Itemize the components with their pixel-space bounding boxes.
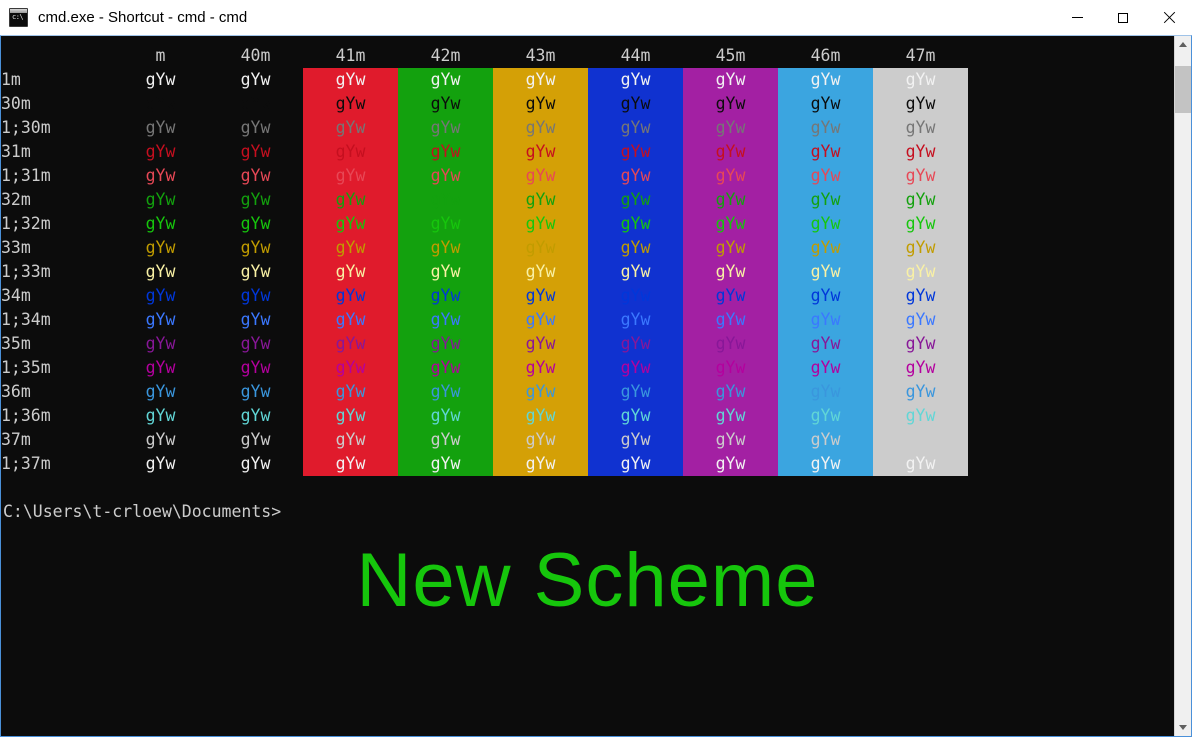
color-cell-1;33m-44m: gYw xyxy=(588,260,683,284)
table-row: 35mgYwgYwgYwgYwgYwgYwgYwgYwgYw xyxy=(1,332,968,356)
color-cell-35m-45m: gYw xyxy=(683,332,778,356)
table-row: 1;36mgYwgYwgYwgYwgYwgYwgYwgYwgYw xyxy=(1,404,968,428)
color-cell-1;31m-40m: gYw xyxy=(208,164,303,188)
column-header-47m: 47m xyxy=(873,44,968,68)
table-row: 1;34mgYwgYwgYwgYwgYwgYwgYwgYwgYw xyxy=(1,308,968,332)
color-cell-35m-40m: gYw xyxy=(208,332,303,356)
color-cell-32m-42m: gYw xyxy=(398,188,493,212)
close-button[interactable] xyxy=(1146,0,1192,35)
color-cell-33m-m: gYw xyxy=(113,236,208,260)
color-cell-1;31m-m: gYw xyxy=(113,164,208,188)
color-cell-34m-m: gYw xyxy=(113,284,208,308)
table-row: 34mgYwgYwgYwgYwgYwgYwgYwgYwgYw xyxy=(1,284,968,308)
color-cell-33m-41m: gYw xyxy=(303,236,398,260)
color-cell-32m-m: gYw xyxy=(113,188,208,212)
color-cell-35m-47m: gYw xyxy=(873,332,968,356)
color-cell-37m-46m: gYw xyxy=(778,428,873,452)
color-cell-33m-46m: gYw xyxy=(778,236,873,260)
color-cell-36m-47m: gYw xyxy=(873,380,968,404)
color-cell-30m-46m: gYw xyxy=(778,92,873,116)
color-cell-1;36m-43m: gYw xyxy=(493,404,588,428)
color-cell-1;34m-42m: gYw xyxy=(398,308,493,332)
color-cell-31m-43m: gYw xyxy=(493,140,588,164)
column-header-42m: 42m xyxy=(398,44,493,68)
table-row: 1;32mgYwgYwgYwgYwgYwgYwgYwgYwgYw xyxy=(1,212,968,236)
color-cell-1;33m-42m: gYw xyxy=(398,260,493,284)
row-header-32m: 32m xyxy=(1,188,113,212)
color-cell-1;32m-43m: gYw xyxy=(493,212,588,236)
color-cell-34m-40m: gYw xyxy=(208,284,303,308)
color-cell-31m-41m: gYw xyxy=(303,140,398,164)
color-cell-1m-43m: gYw xyxy=(493,68,588,92)
row-header-1;34m: 1;34m xyxy=(1,308,113,332)
color-cell-1;35m-42m: gYw xyxy=(398,356,493,380)
column-header-40m: 40m xyxy=(208,44,303,68)
color-cell-33m-40m: gYw xyxy=(208,236,303,260)
color-cell-1m-40m: gYw xyxy=(208,68,303,92)
table-row: 1mgYwgYwgYwgYwgYwgYwgYwgYwgYw xyxy=(1,68,968,92)
column-header-45m: 45m xyxy=(683,44,778,68)
color-cell-1;37m-m: gYw xyxy=(113,452,208,476)
color-cell-35m-41m: gYw xyxy=(303,332,398,356)
color-cell-1;33m-45m: gYw xyxy=(683,260,778,284)
color-cell-37m-40m: gYw xyxy=(208,428,303,452)
color-cell-37m-43m: gYw xyxy=(493,428,588,452)
table-row: 30mgYwgYwgYwgYwgYwgYwgYwgYwgYw xyxy=(1,92,968,116)
window-title: cmd.exe - Shortcut - cmd - cmd xyxy=(38,9,247,26)
color-cell-30m-m: gYw xyxy=(113,92,208,116)
close-icon xyxy=(1163,12,1175,24)
table-row: 1;35mgYwgYwgYwgYwgYwgYwgYwgYwgYw xyxy=(1,356,968,380)
color-cell-1m-41m: gYw xyxy=(303,68,398,92)
color-cell-1;36m-m: gYw xyxy=(113,404,208,428)
row-header-1;31m: 1;31m xyxy=(1,164,113,188)
color-cell-31m-46m: gYw xyxy=(778,140,873,164)
scrollbar-thumb[interactable] xyxy=(1175,66,1191,113)
color-cell-34m-45m: gYw xyxy=(683,284,778,308)
color-cell-1;35m-45m: gYw xyxy=(683,356,778,380)
color-cell-36m-40m: gYw xyxy=(208,380,303,404)
color-cell-30m-41m: gYw xyxy=(303,92,398,116)
row-header-35m: 35m xyxy=(1,332,113,356)
color-cell-1;31m-42m: gYw xyxy=(398,164,493,188)
ansi-table-body: 1mgYwgYwgYwgYwgYwgYwgYwgYwgYw30mgYwgYwgY… xyxy=(1,68,968,476)
color-cell-31m-m: gYw xyxy=(113,140,208,164)
color-cell-32m-45m: gYw xyxy=(683,188,778,212)
color-cell-1;35m-46m: gYw xyxy=(778,356,873,380)
color-cell-1;37m-46m: gYw xyxy=(778,452,873,476)
color-cell-1;36m-42m: gYw xyxy=(398,404,493,428)
column-header-46m: 46m xyxy=(778,44,873,68)
color-cell-1;31m-46m: gYw xyxy=(778,164,873,188)
chevron-down-icon xyxy=(1179,725,1187,730)
color-cell-1;36m-47m: gYw xyxy=(873,404,968,428)
scrollbar-track[interactable] xyxy=(1175,53,1191,719)
table-row: 33mgYwgYwgYwgYwgYwgYwgYwgYwgYw xyxy=(1,236,968,260)
color-cell-32m-44m: gYw xyxy=(588,188,683,212)
color-cell-1;32m-m: gYw xyxy=(113,212,208,236)
new-scheme-banner: New Scheme xyxy=(1,538,1174,624)
color-cell-1;30m-42m: gYw xyxy=(398,116,493,140)
title-bar[interactable]: cmd.exe - Shortcut - cmd - cmd xyxy=(0,0,1192,35)
color-cell-1;34m-41m: gYw xyxy=(303,308,398,332)
table-row: 1;37mgYwgYwgYwgYwgYwgYwgYwgYwgYw xyxy=(1,452,968,476)
window-controls xyxy=(1054,0,1192,35)
color-cell-1;35m-44m: gYw xyxy=(588,356,683,380)
color-cell-37m-m: gYw xyxy=(113,428,208,452)
color-cell-33m-43m: gYw xyxy=(493,236,588,260)
color-cell-32m-41m: gYw xyxy=(303,188,398,212)
color-cell-1;33m-47m: gYw xyxy=(873,260,968,284)
row-header-33m: 33m xyxy=(1,236,113,260)
color-cell-37m-45m: gYw xyxy=(683,428,778,452)
color-cell-1;35m-47m: gYw xyxy=(873,356,968,380)
color-cell-1;34m-m: gYw xyxy=(113,308,208,332)
color-cell-1;37m-43m: gYw xyxy=(493,452,588,476)
color-cell-1;33m-43m: gYw xyxy=(493,260,588,284)
scroll-up-button[interactable] xyxy=(1175,36,1191,53)
color-cell-1;30m-44m: gYw xyxy=(588,116,683,140)
row-header-37m: 37m xyxy=(1,428,113,452)
color-cell-1;36m-46m: gYw xyxy=(778,404,873,428)
color-cell-1;31m-45m: gYw xyxy=(683,164,778,188)
column-header-41m: 41m xyxy=(303,44,398,68)
color-cell-1;34m-44m: gYw xyxy=(588,308,683,332)
color-cell-1;31m-44m: gYw xyxy=(588,164,683,188)
console-output[interactable]: m40m41m42m43m44m45m46m47m 1mgYwgYwgYwgYw… xyxy=(1,36,1174,736)
color-cell-30m-42m: gYw xyxy=(398,92,493,116)
color-cell-35m-m: gYw xyxy=(113,332,208,356)
table-row: 32mgYwgYwgYwgYwgYwgYwgYwgYwgYw xyxy=(1,188,968,212)
color-cell-1m-45m: gYw xyxy=(683,68,778,92)
maximize-icon xyxy=(1118,13,1128,23)
column-header-m: m xyxy=(113,44,208,68)
color-cell-31m-44m: gYw xyxy=(588,140,683,164)
color-cell-1;30m-40m: gYw xyxy=(208,116,303,140)
color-cell-31m-47m: gYw xyxy=(873,140,968,164)
color-cell-34m-42m: gYw xyxy=(398,284,493,308)
color-cell-34m-41m: gYw xyxy=(303,284,398,308)
minimize-button[interactable] xyxy=(1054,0,1100,35)
color-cell-32m-46m: gYw xyxy=(778,188,873,212)
ansi-color-table: m40m41m42m43m44m45m46m47m 1mgYwgYwgYwgYw… xyxy=(1,44,968,476)
color-cell-34m-44m: gYw xyxy=(588,284,683,308)
table-row: 31mgYwgYwgYwgYwgYwgYwgYwgYwgYw xyxy=(1,140,968,164)
column-header-43m: 43m xyxy=(493,44,588,68)
row-header-34m: 34m xyxy=(1,284,113,308)
color-cell-1;37m-40m: gYw xyxy=(208,452,303,476)
color-cell-1m-47m: gYw xyxy=(873,68,968,92)
color-cell-31m-45m: gYw xyxy=(683,140,778,164)
color-cell-30m-43m: gYw xyxy=(493,92,588,116)
color-cell-1;33m-40m: gYw xyxy=(208,260,303,284)
color-cell-1;32m-45m: gYw xyxy=(683,212,778,236)
color-cell-1;31m-43m: gYw xyxy=(493,164,588,188)
color-cell-30m-45m: gYw xyxy=(683,92,778,116)
color-cell-1;32m-44m: gYw xyxy=(588,212,683,236)
color-cell-1;32m-46m: gYw xyxy=(778,212,873,236)
color-cell-1;30m-41m: gYw xyxy=(303,116,398,140)
color-cell-36m-43m: gYw xyxy=(493,380,588,404)
color-cell-37m-42m: gYw xyxy=(398,428,493,452)
color-cell-1;37m-41m: gYw xyxy=(303,452,398,476)
color-cell-35m-42m: gYw xyxy=(398,332,493,356)
row-header-1;30m: 1;30m xyxy=(1,116,113,140)
ansi-header-row: m40m41m42m43m44m45m46m47m xyxy=(1,44,968,68)
color-cell-1;33m-41m: gYw xyxy=(303,260,398,284)
color-cell-1;32m-41m: gYw xyxy=(303,212,398,236)
color-cell-1;37m-45m: gYw xyxy=(683,452,778,476)
chevron-up-icon xyxy=(1179,42,1187,47)
table-row: 1;30mgYwgYwgYwgYwgYwgYwgYwgYwgYw xyxy=(1,116,968,140)
color-cell-30m-40m: gYw xyxy=(208,92,303,116)
color-cell-1;36m-44m: gYw xyxy=(588,404,683,428)
color-cell-1;30m-45m: gYw xyxy=(683,116,778,140)
color-cell-37m-41m: gYw xyxy=(303,428,398,452)
color-cell-1;36m-40m: gYw xyxy=(208,404,303,428)
color-cell-1;36m-45m: gYw xyxy=(683,404,778,428)
color-cell-34m-43m: gYw xyxy=(493,284,588,308)
row-header-30m: 30m xyxy=(1,92,113,116)
maximize-button[interactable] xyxy=(1100,0,1146,35)
color-cell-32m-47m: gYw xyxy=(873,188,968,212)
scroll-down-button[interactable] xyxy=(1175,719,1191,736)
color-cell-36m-42m: gYw xyxy=(398,380,493,404)
row-header-1;33m: 1;33m xyxy=(1,260,113,284)
table-row: 1;33mgYwgYwgYwgYwgYwgYwgYwgYwgYw xyxy=(1,260,968,284)
ansi-table-head: m40m41m42m43m44m45m46m47m xyxy=(1,44,968,68)
vertical-scrollbar[interactable] xyxy=(1174,36,1191,736)
color-cell-1;34m-45m: gYw xyxy=(683,308,778,332)
color-cell-34m-46m: gYw xyxy=(778,284,873,308)
color-cell-37m-44m: gYw xyxy=(588,428,683,452)
color-cell-1;33m-46m: gYw xyxy=(778,260,873,284)
cmd-console-icon xyxy=(9,8,28,27)
table-row: 36mgYwgYwgYwgYwgYwgYwgYwgYwgYw xyxy=(1,380,968,404)
table-row: 37mgYwgYwgYwgYwgYwgYwgYwgYwgYw xyxy=(1,428,968,452)
color-cell-32m-40m: gYw xyxy=(208,188,303,212)
row-header-1;35m: 1;35m xyxy=(1,356,113,380)
color-cell-33m-44m: gYw xyxy=(588,236,683,260)
row-header-1;37m: 1;37m xyxy=(1,452,113,476)
color-cell-1;30m-m: gYw xyxy=(113,116,208,140)
title-bar-left: cmd.exe - Shortcut - cmd - cmd xyxy=(0,8,247,27)
row-header-1;32m: 1;32m xyxy=(1,212,113,236)
color-cell-1;30m-46m: gYw xyxy=(778,116,873,140)
command-prompt-line: C:\Users\t-crloew\Documents> xyxy=(1,500,1174,524)
color-cell-31m-40m: gYw xyxy=(208,140,303,164)
row-header-1m: 1m xyxy=(1,68,113,92)
color-cell-36m-46m: gYw xyxy=(778,380,873,404)
row-header-1;36m: 1;36m xyxy=(1,404,113,428)
color-cell-1;30m-43m: gYw xyxy=(493,116,588,140)
color-cell-35m-44m: gYw xyxy=(588,332,683,356)
row-header-36m: 36m xyxy=(1,380,113,404)
color-cell-1;34m-40m: gYw xyxy=(208,308,303,332)
color-cell-36m-41m: gYw xyxy=(303,380,398,404)
color-cell-1m-46m: gYw xyxy=(778,68,873,92)
color-cell-37m-47m: gYw xyxy=(873,428,968,452)
color-cell-1;37m-44m: gYw xyxy=(588,452,683,476)
color-cell-1;35m-m: gYw xyxy=(113,356,208,380)
color-cell-32m-43m: gYw xyxy=(493,188,588,212)
color-cell-1m-42m: gYw xyxy=(398,68,493,92)
table-corner xyxy=(1,44,113,68)
color-cell-36m-44m: gYw xyxy=(588,380,683,404)
color-cell-1;34m-47m: gYw xyxy=(873,308,968,332)
color-cell-1;32m-42m: gYw xyxy=(398,212,493,236)
color-cell-1;31m-47m: gYw xyxy=(873,164,968,188)
color-cell-35m-46m: gYw xyxy=(778,332,873,356)
color-cell-33m-47m: gYw xyxy=(873,236,968,260)
column-header-44m: 44m xyxy=(588,44,683,68)
color-cell-30m-47m: gYw xyxy=(873,92,968,116)
color-cell-1;30m-47m: gYw xyxy=(873,116,968,140)
color-cell-1;31m-41m: gYw xyxy=(303,164,398,188)
color-cell-36m-m: gYw xyxy=(113,380,208,404)
color-cell-35m-43m: gYw xyxy=(493,332,588,356)
cmd-window: cmd.exe - Shortcut - cmd - cmd m40m41m42… xyxy=(0,0,1192,737)
color-cell-1;32m-47m: gYw xyxy=(873,212,968,236)
color-cell-36m-45m: gYw xyxy=(683,380,778,404)
color-cell-1;32m-40m: gYw xyxy=(208,212,303,236)
color-cell-34m-47m: gYw xyxy=(873,284,968,308)
console-frame: m40m41m42m43m44m45m46m47m 1mgYwgYwgYwgYw… xyxy=(0,35,1192,737)
color-cell-1m-44m: gYw xyxy=(588,68,683,92)
color-cell-1;36m-41m: gYw xyxy=(303,404,398,428)
color-cell-1;35m-41m: gYw xyxy=(303,356,398,380)
color-cell-30m-44m: gYw xyxy=(588,92,683,116)
color-cell-1;34m-46m: gYw xyxy=(778,308,873,332)
color-cell-1m-m: gYw xyxy=(113,68,208,92)
color-cell-33m-45m: gYw xyxy=(683,236,778,260)
table-row: 1;31mgYwgYwgYwgYwgYwgYwgYwgYwgYw xyxy=(1,164,968,188)
color-cell-1;37m-42m: gYw xyxy=(398,452,493,476)
color-cell-31m-42m: gYw xyxy=(398,140,493,164)
color-cell-1;35m-43m: gYw xyxy=(493,356,588,380)
minimize-icon xyxy=(1072,17,1083,18)
color-cell-1;37m-47m: gYw xyxy=(873,452,968,476)
color-cell-1;35m-40m: gYw xyxy=(208,356,303,380)
color-cell-33m-42m: gYw xyxy=(398,236,493,260)
color-cell-1;34m-43m: gYw xyxy=(493,308,588,332)
color-cell-1;33m-m: gYw xyxy=(113,260,208,284)
row-header-31m: 31m xyxy=(1,140,113,164)
